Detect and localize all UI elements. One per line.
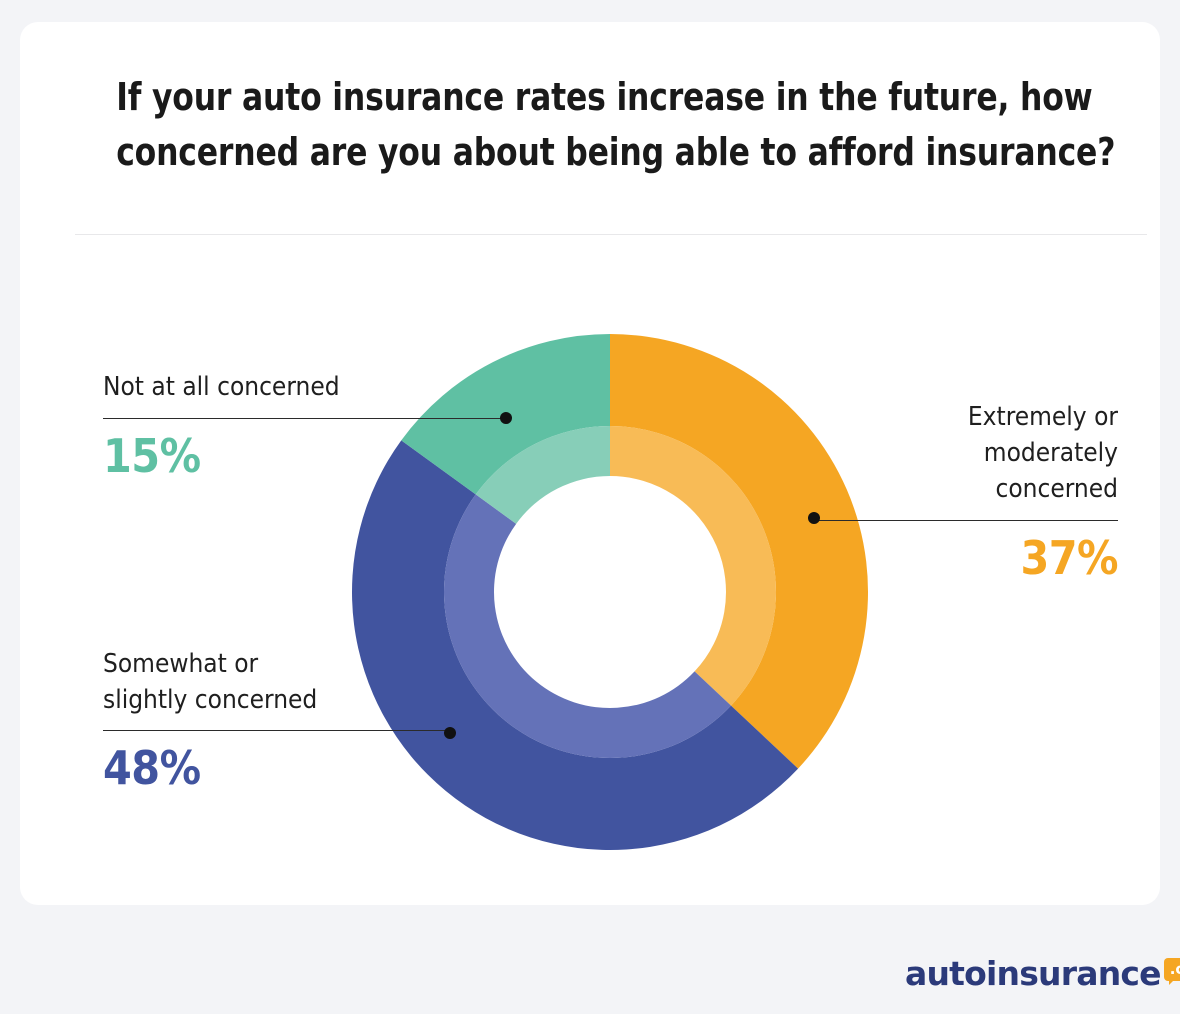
autoinsurance-logo[interactable]: autoinsurance .com bbox=[905, 938, 1180, 990]
callout-blue-leader-dot bbox=[444, 727, 456, 739]
callout-green-leader-dot bbox=[500, 412, 512, 424]
callout-somewhat-or-slightly-concerned: Somewhat or slightly concerned 48% bbox=[103, 647, 455, 793]
callout-green-percent: 15% bbox=[103, 431, 507, 482]
logo-bubble-tail bbox=[1169, 977, 1177, 985]
logo-bubble-group: .com bbox=[1164, 959, 1180, 978]
title-divider bbox=[75, 234, 1147, 235]
callout-not-at-all-concerned: Not at all concerned 15% bbox=[103, 370, 507, 481]
callout-orange-leader-dot bbox=[808, 512, 820, 524]
page-title: If your auto insurance rates increase in… bbox=[116, 70, 1064, 180]
callout-green-label: Not at all concerned bbox=[103, 370, 507, 406]
logo-wordmark: autoinsurance bbox=[905, 957, 1161, 990]
callout-orange-label: Extremely or moderately concerned bbox=[814, 400, 1118, 508]
callout-orange-leader-line bbox=[814, 520, 1118, 521]
callout-blue-percent: 48% bbox=[103, 743, 455, 794]
title-line-1: If your auto insurance rates increase in… bbox=[116, 70, 1064, 125]
title-line-2: concerned are you about being able to af… bbox=[116, 125, 1064, 180]
callout-blue-leader-line bbox=[103, 730, 455, 731]
callout-orange-percent: 37% bbox=[814, 533, 1118, 584]
callout-green-leader-line bbox=[103, 418, 507, 419]
callout-extremely-or-moderately-concerned: Extremely or moderately concerned 37% bbox=[814, 400, 1118, 583]
infographic-card: If your auto insurance rates increase in… bbox=[20, 22, 1160, 905]
callout-blue-label: Somewhat or slightly concerned bbox=[103, 647, 455, 719]
